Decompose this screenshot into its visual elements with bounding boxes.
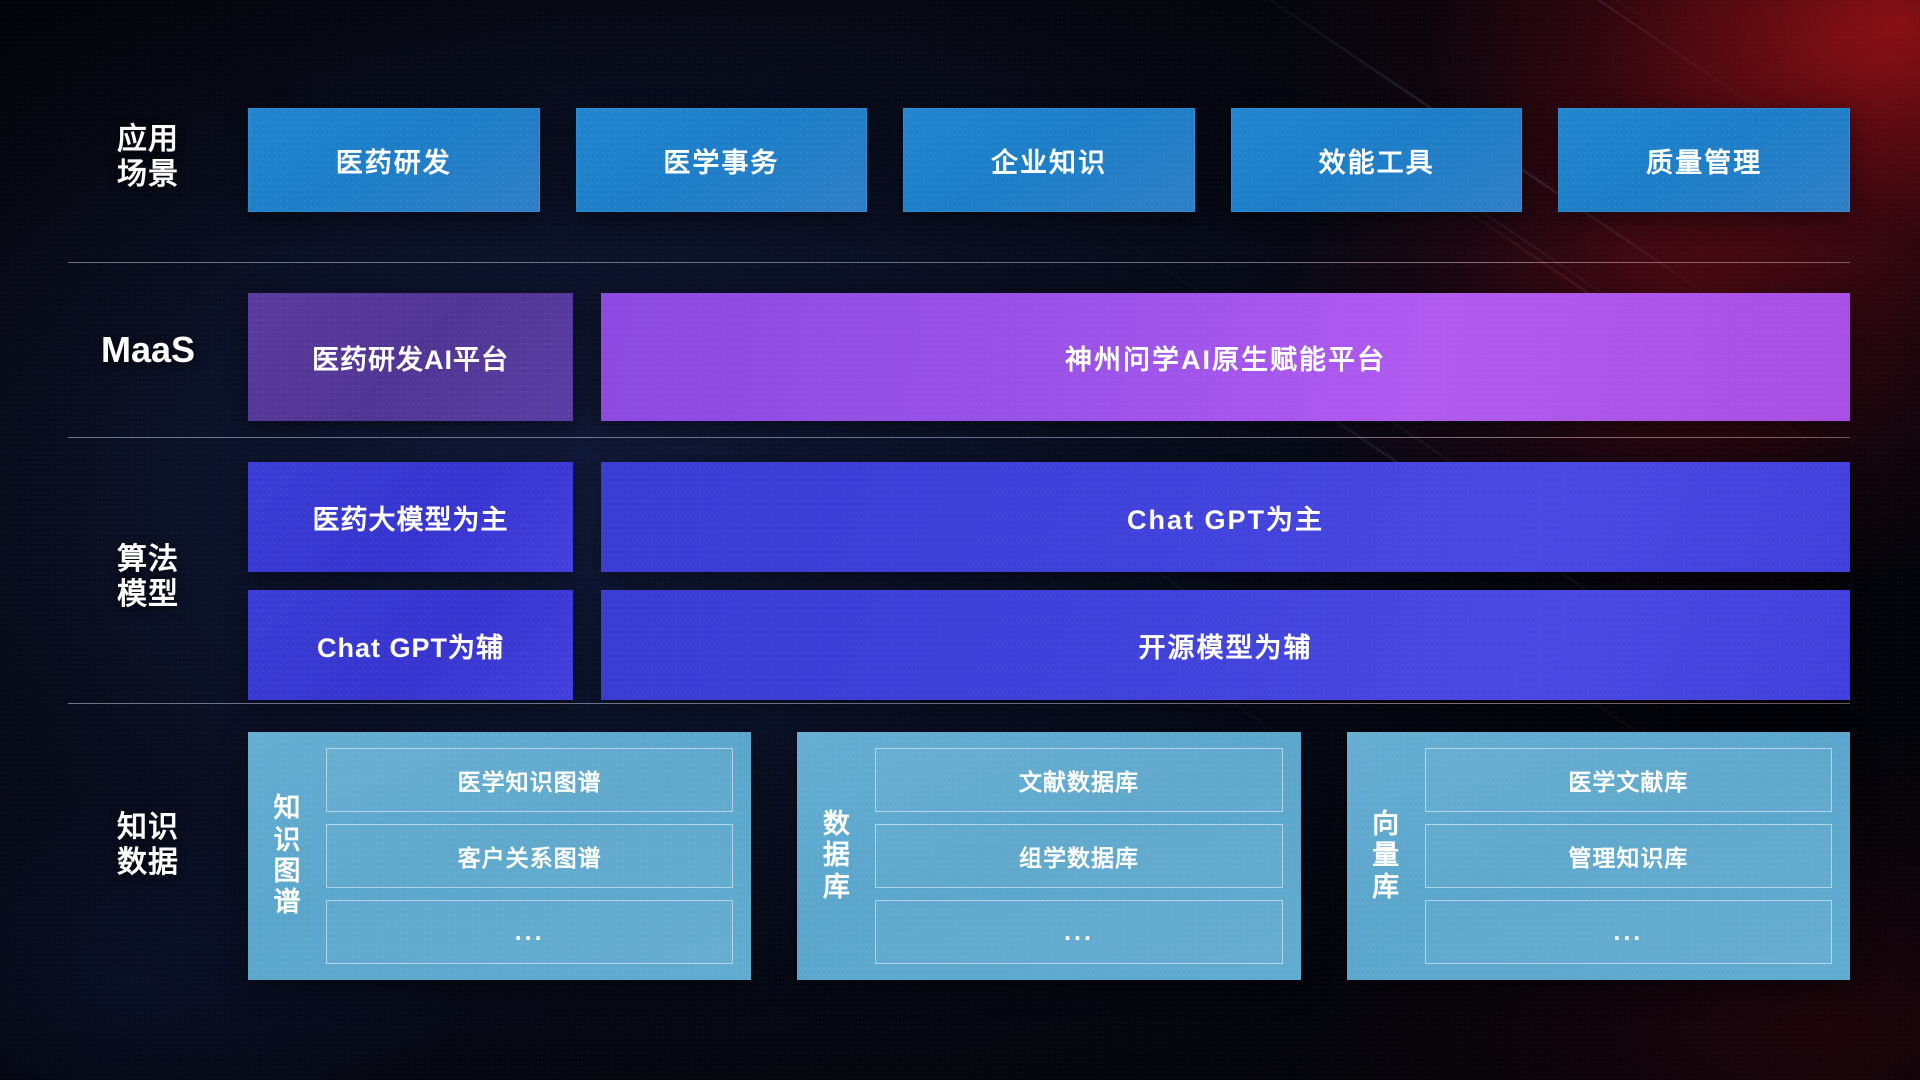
divider-algorithm-knowledge bbox=[68, 703, 1850, 704]
knowledge-item-management-knowledge[interactable]: 管理知识库 bbox=[1425, 824, 1832, 888]
knowledge-item-list: 文献数据库 组学数据库 ... bbox=[875, 748, 1282, 964]
knowledge-item-customer-graph[interactable]: 客户关系图谱 bbox=[326, 824, 733, 888]
app-box-quality-management[interactable]: 质量管理 bbox=[1558, 108, 1850, 212]
knowledge-card-track: 知识图谱 医学知识图谱 客户关系图谱 ... 数据库 文献数据库 组学数据库 .… bbox=[248, 732, 1850, 980]
knowledge-card-database[interactable]: 数据库 文献数据库 组学数据库 ... bbox=[797, 732, 1300, 980]
row-label-maas: MaaS bbox=[68, 329, 228, 371]
maas-box-shenzhou-wenxue-platform[interactable]: 神州问学AI原生赋能平台 bbox=[601, 293, 1850, 421]
architecture-diagram: 应用 场景 医药研发 医学事务 企业知识 效能工具 质量管理 MaaS 医药研发… bbox=[0, 0, 1920, 1080]
knowledge-item-more[interactable]: ... bbox=[326, 900, 733, 964]
algorithm-box-grid: 医药大模型为主 Chat GPT为主 Chat GPT为辅 开源模型为辅 bbox=[248, 462, 1850, 700]
app-box-drug-rd[interactable]: 医药研发 bbox=[248, 108, 540, 212]
app-box-enterprise-knowledge[interactable]: 企业知识 bbox=[903, 108, 1195, 212]
knowledge-item-list: 医学知识图谱 客户关系图谱 ... bbox=[326, 748, 733, 964]
knowledge-item-list: 医学文献库 管理知识库 ... bbox=[1425, 748, 1832, 964]
knowledge-card-vector-store[interactable]: 向量库 医学文献库 管理知识库 ... bbox=[1347, 732, 1850, 980]
knowledge-card-knowledge-graph[interactable]: 知识图谱 医学知识图谱 客户关系图谱 ... bbox=[248, 732, 751, 980]
row-algorithm-models: 算法 模型 医药大模型为主 Chat GPT为主 Chat GPT为辅 开源模型… bbox=[0, 462, 1920, 700]
app-box-medical-affairs[interactable]: 医学事务 bbox=[576, 108, 868, 212]
knowledge-item-omics-db[interactable]: 组学数据库 bbox=[875, 824, 1282, 888]
algorithm-line-secondary: Chat GPT为辅 开源模型为辅 bbox=[248, 590, 1850, 700]
knowledge-item-more[interactable]: ... bbox=[1425, 900, 1832, 964]
algorithm-line-primary: 医药大模型为主 Chat GPT为主 bbox=[248, 462, 1850, 572]
algo-box-chatgpt-secondary[interactable]: Chat GPT为辅 bbox=[248, 590, 573, 700]
knowledge-item-medical-graph[interactable]: 医学知识图谱 bbox=[326, 748, 733, 812]
row-label-knowledge-data: 知识 数据 bbox=[68, 810, 228, 881]
knowledge-card-label-knowledge-graph: 知识图谱 bbox=[258, 748, 316, 964]
divider-applications-maas bbox=[68, 262, 1850, 263]
algo-box-chatgpt-primary[interactable]: Chat GPT为主 bbox=[601, 462, 1850, 572]
maas-box-drug-rd-ai-platform[interactable]: 医药研发AI平台 bbox=[248, 293, 573, 421]
knowledge-card-label-vector-store: 向量库 bbox=[1357, 748, 1415, 964]
row-applications: 应用 场景 医药研发 医学事务 企业知识 效能工具 质量管理 bbox=[0, 108, 1920, 212]
divider-maas-algorithm bbox=[68, 437, 1850, 438]
knowledge-item-more[interactable]: ... bbox=[875, 900, 1282, 964]
app-box-efficiency-tools[interactable]: 效能工具 bbox=[1231, 108, 1523, 212]
application-box-track: 医药研发 医学事务 企业知识 效能工具 质量管理 bbox=[248, 108, 1850, 212]
algo-box-pharma-llm-primary[interactable]: 医药大模型为主 bbox=[248, 462, 573, 572]
knowledge-card-label-database: 数据库 bbox=[807, 748, 865, 964]
row-label-algorithm-models: 算法 模型 bbox=[68, 542, 228, 613]
knowledge-item-medical-literature[interactable]: 医学文献库 bbox=[1425, 748, 1832, 812]
row-label-applications: 应用 场景 bbox=[68, 122, 228, 193]
knowledge-item-literature-db[interactable]: 文献数据库 bbox=[875, 748, 1282, 812]
row-maas: MaaS 医药研发AI平台 神州问学AI原生赋能平台 bbox=[0, 293, 1920, 421]
algo-box-opensource-secondary[interactable]: 开源模型为辅 bbox=[601, 590, 1850, 700]
row-knowledge-data: 知识 数据 知识图谱 医学知识图谱 客户关系图谱 ... 数据库 文献数据库 组… bbox=[0, 732, 1920, 980]
